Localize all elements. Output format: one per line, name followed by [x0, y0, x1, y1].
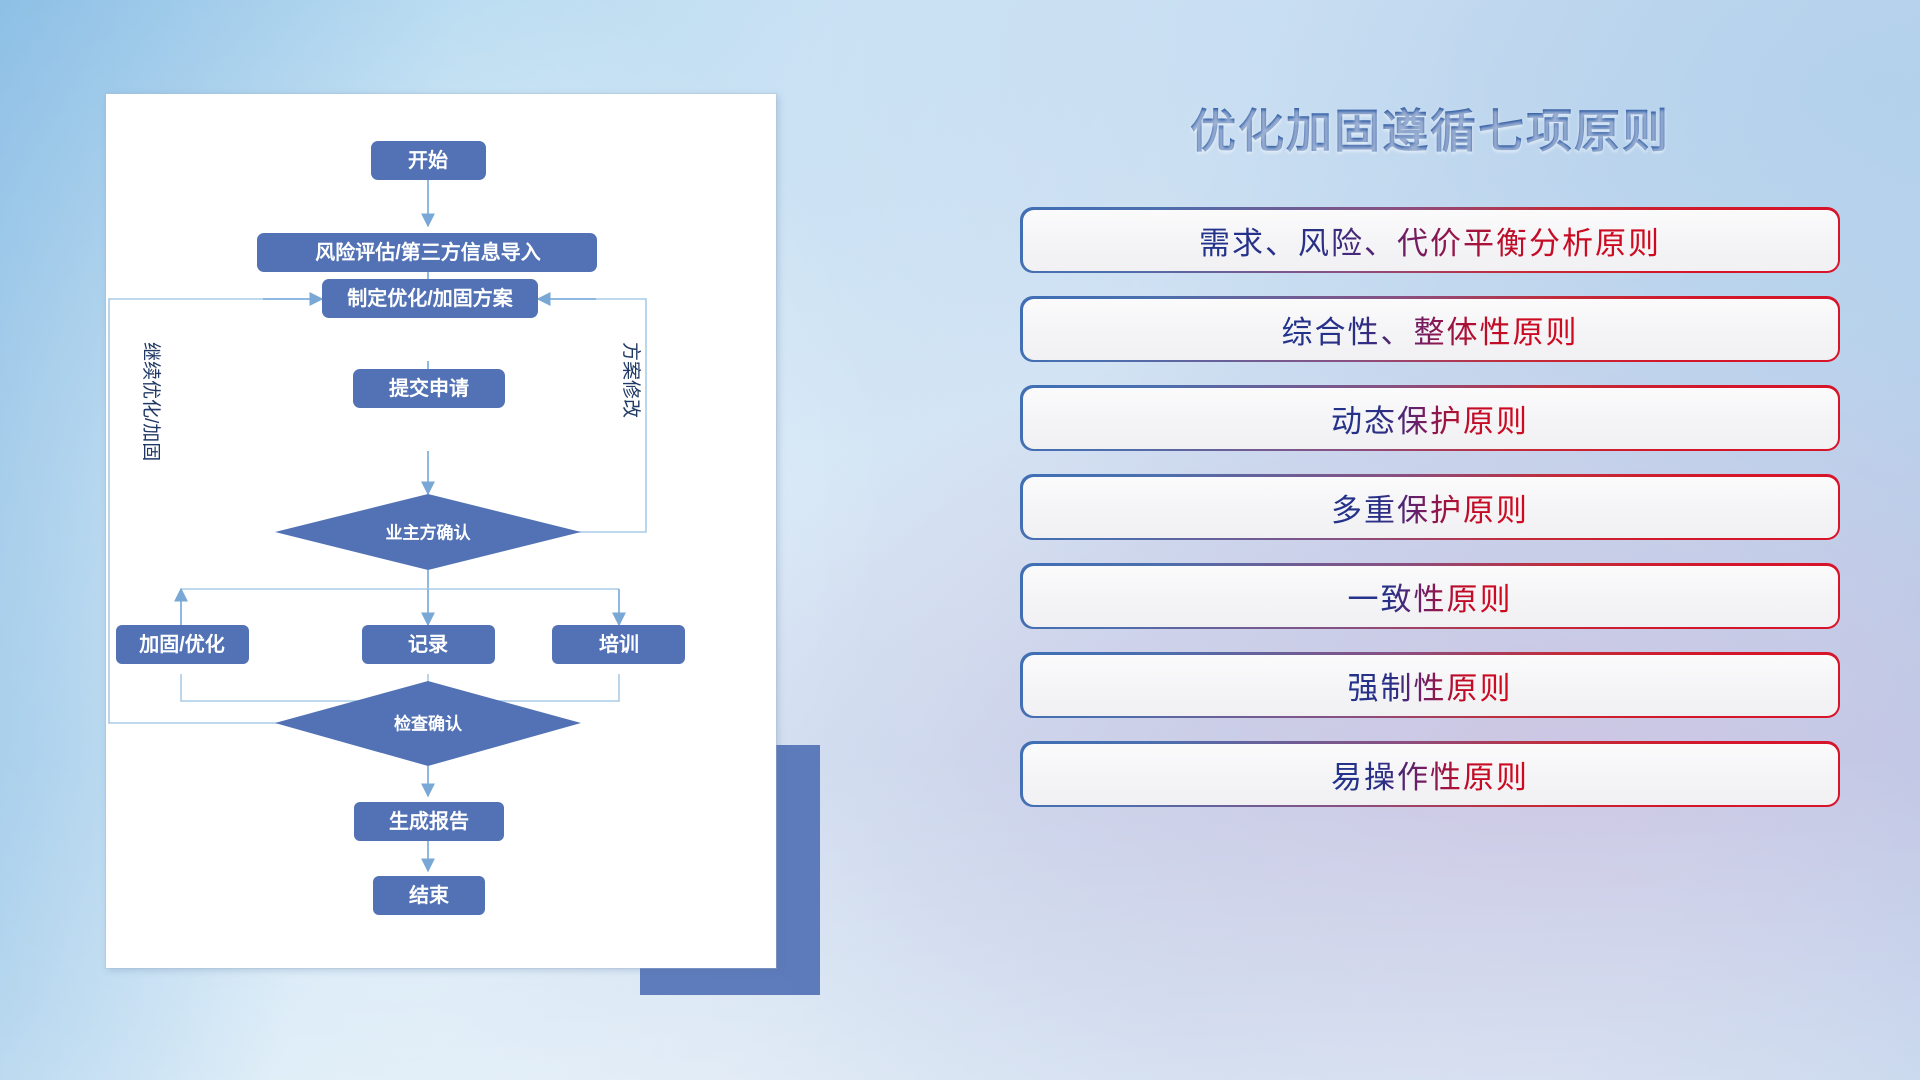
principle-card[interactable]: 动态保护原则: [1020, 385, 1840, 451]
principle-card[interactable]: 综合性、整体性原则: [1020, 296, 1840, 362]
principles-list: 需求、风险、代价平衡分析原则 综合性、整体性原则 动态保护原则 多重保护原则: [1020, 207, 1840, 807]
flow-node-submit-application-label: 提交申请: [389, 376, 469, 400]
flow-node-record-label: 记录: [408, 633, 448, 656]
principle-card-inner: 需求、风险、代价平衡分析原则: [1023, 210, 1838, 271]
principle-card-inner: 综合性、整体性原则: [1023, 299, 1838, 360]
principle-label: 一致性原则: [1348, 574, 1513, 619]
flow-node-start[interactable]: 开始: [371, 141, 486, 180]
flowchart-diagram: 开始 风险评估/第三方信息导入 制定优化/加固方案 提交申请 业主方确认: [106, 94, 776, 968]
flow-node-check-confirm-label: 检查确认: [394, 714, 463, 734]
principle-card[interactable]: 一致性原则: [1020, 563, 1840, 629]
flow-node-training-label: 培训: [599, 632, 639, 656]
flow-node-reinforce-optimize-label: 加固/优化: [138, 632, 225, 656]
principle-label: 综合性、整体性原则: [1282, 307, 1579, 352]
flow-side-label-continue-optimize: 继续优化/加固: [140, 342, 162, 461]
principle-card[interactable]: 需求、风险、代价平衡分析原则: [1020, 207, 1840, 273]
flow-node-end-label: 结束: [409, 883, 450, 907]
principle-card[interactable]: 强制性原则: [1020, 652, 1840, 718]
principle-card-inner: 强制性原则: [1023, 655, 1838, 716]
flow-node-end[interactable]: 结束: [373, 876, 485, 915]
principle-label: 多重保护原则: [1331, 485, 1529, 530]
flow-node-reinforce-optimize[interactable]: 加固/优化: [116, 625, 249, 664]
flow-node-risk-assessment[interactable]: 风险评估/第三方信息导入: [257, 233, 597, 272]
principle-card[interactable]: 多重保护原则: [1020, 474, 1840, 540]
principle-card-inner: 易操作性原则: [1023, 744, 1838, 805]
flow-node-generate-report-label: 生成报告: [389, 809, 469, 833]
flow-node-training[interactable]: 培训: [552, 625, 685, 664]
flow-node-make-plan[interactable]: 制定优化/加固方案: [322, 279, 538, 318]
principle-card-inner: 多重保护原则: [1023, 477, 1838, 538]
flow-node-owner-confirm-label: 业主方确认: [386, 523, 472, 543]
principle-label: 需求、风险、代价平衡分析原则: [1199, 218, 1661, 263]
flow-node-check-confirm[interactable]: 检查确认: [275, 681, 581, 766]
flow-node-record[interactable]: 记录: [362, 625, 495, 664]
flow-node-submit-application[interactable]: 提交申请: [353, 369, 505, 408]
slide-canvas: 开始 风险评估/第三方信息导入 制定优化/加固方案 提交申请 业主方确认: [0, 0, 1920, 1080]
principles-panel: 优化加固遵循七项原则 需求、风险、代价平衡分析原则 综合性、整体性原则 动态保护…: [1020, 104, 1840, 1004]
flow-node-owner-confirm[interactable]: 业主方确认: [275, 494, 581, 570]
principle-card-inner: 一致性原则: [1023, 566, 1838, 627]
principle-card[interactable]: 易操作性原则: [1020, 741, 1840, 807]
principles-title: 优化加固遵循七项原则: [1020, 104, 1840, 163]
flow-node-make-plan-label: 制定优化/加固方案: [347, 286, 514, 310]
flow-side-label-plan-revision: 方案修改: [620, 342, 642, 418]
flow-node-generate-report[interactable]: 生成报告: [354, 802, 504, 841]
principle-label: 易操作性原则: [1331, 752, 1529, 797]
flow-node-start-label: 开始: [408, 148, 448, 172]
flow-node-risk-assessment-label: 风险评估/第三方信息导入: [315, 240, 541, 264]
flowchart-panel: 开始 风险评估/第三方信息导入 制定优化/加固方案 提交申请 业主方确认: [106, 94, 776, 968]
principle-label: 动态保护原则: [1331, 396, 1529, 441]
principle-label: 强制性原则: [1348, 663, 1513, 708]
principle-card-inner: 动态保护原则: [1023, 388, 1838, 449]
